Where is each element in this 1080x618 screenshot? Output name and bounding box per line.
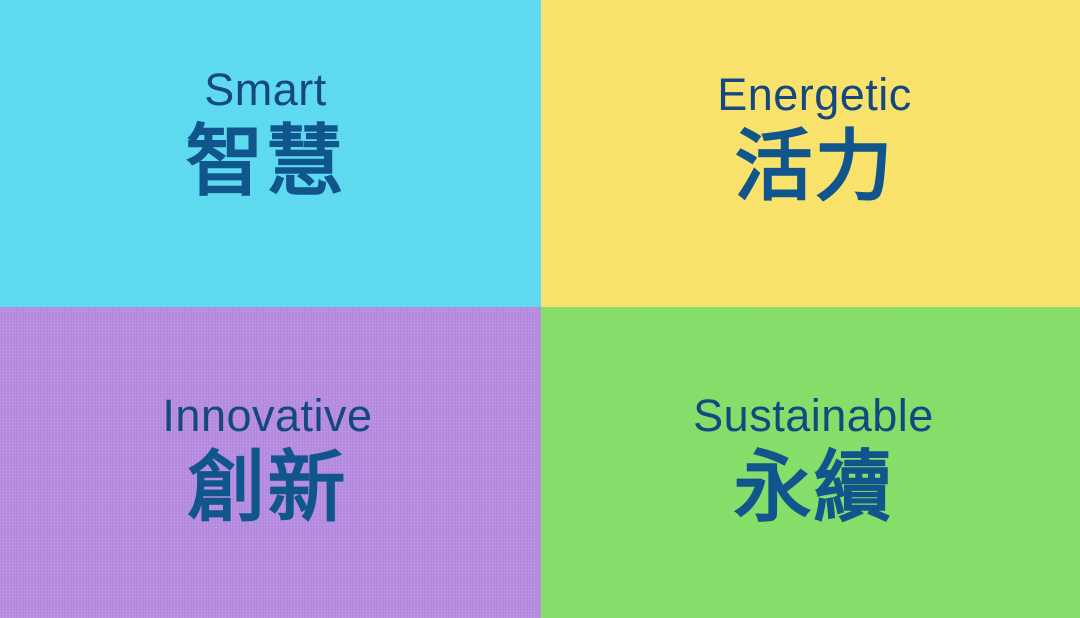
label-stack-smart: Smart 智慧 — [185, 67, 345, 204]
quadrant-energetic-label-en: Energetic — [717, 72, 912, 117]
quadrant-smart[interactable]: Smart 智慧 — [0, 0, 541, 307]
quadrant-energetic[interactable]: Energetic 活力 — [541, 0, 1080, 307]
quadrant-innovative-label-zh: 創新 — [187, 448, 347, 530]
quadrant-smart-label-en: Smart — [204, 67, 327, 112]
quadrant-smart-label-zh: 智慧 — [185, 122, 345, 204]
quadrant-innovative[interactable]: Innovative 創新 — [0, 307, 541, 618]
quadrant-sustainable-label-zh: 永續 — [733, 448, 893, 530]
brand-values-grid: Smart 智慧 Energetic 活力 Innovative 創新 Sust… — [0, 0, 1080, 618]
label-stack-energetic: Energetic 活力 — [717, 72, 912, 209]
label-stack-sustainable: Sustainable 永續 — [693, 393, 934, 530]
quadrant-sustainable-label-en: Sustainable — [693, 393, 934, 438]
quadrant-energetic-label-zh: 活力 — [734, 127, 894, 209]
quadrant-innovative-label-en: Innovative — [162, 393, 372, 438]
quadrant-sustainable[interactable]: Sustainable 永續 — [541, 307, 1080, 618]
label-stack-innovative: Innovative 創新 — [162, 393, 372, 530]
